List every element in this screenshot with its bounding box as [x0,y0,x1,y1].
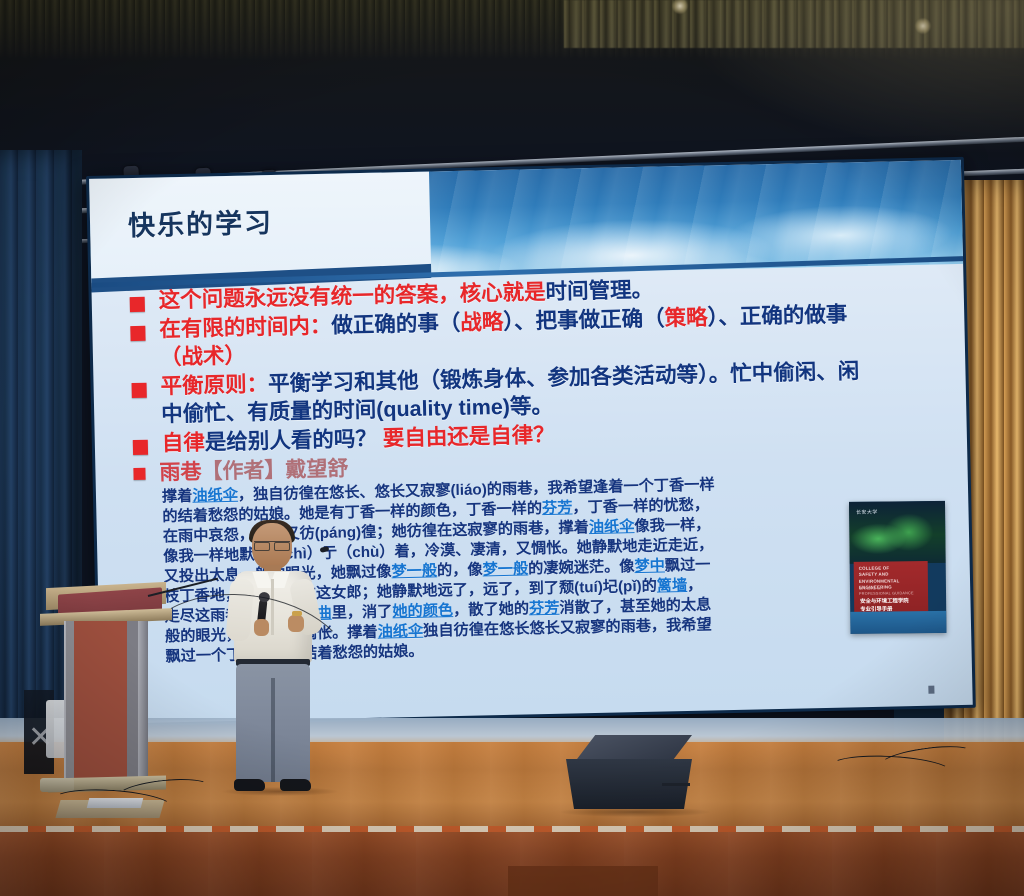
bullet-square-icon [132,383,147,398]
bullet-3-seg-1: 平衡原则： [160,372,268,398]
bullet-square-icon [130,297,145,312]
monitor-top-face [574,735,692,763]
lectern [40,585,172,800]
presenter-shoe-left [234,779,265,791]
presenter-shoe-right [280,779,311,791]
bullet-2-seg-5: 策略 [664,305,708,330]
slide-title: 快乐的学习 [128,201,274,243]
stage-apron-panel [508,866,658,896]
book-cover-band: COLLEGE OF SAFETY AND ENVIRONMENTAL ENGI… [854,561,929,616]
book-subtitle-en: MANUAL OF PROFESSIONAL GUIDANCE [859,586,925,597]
bullet-square-icon [130,326,145,341]
ceiling-lamp-icon [915,18,931,34]
bullet-square-icon [133,439,148,454]
glasses-icon [254,541,290,549]
poem-author: 戴望舒 [285,457,348,481]
book-cover-thumbnail: 长安大学 COLLEGE OF SAFETY AND ENVIRONMENTAL… [849,501,946,634]
bullet-2-seg-1: 在有限的时间内： [159,314,331,342]
lectern-body [66,621,144,781]
book-cover-photo: 长安大学 [849,501,946,564]
bullet-1-seg-1: 这个问题永远没有统一的答案，核心就是 [158,280,545,312]
bullet-1-seg-2: 时间管理。 [545,278,653,304]
monitor-handle [662,783,690,786]
bullet-2-seg-6: ）、正确的做事 [707,302,847,329]
poem-bracket: 【作者】 [201,458,285,483]
slide-page-marker [928,686,934,694]
book-university-logo: 长安大学 [856,509,878,516]
bullet-4-seg-2: 是给别人看的吗？ [205,426,383,454]
poem-title: 雨巷 [159,460,201,484]
bullet-4-seg-3: 要自由还是自律？ [383,423,555,451]
auditorium-scene: 快乐的学习 这个问题永远没有统一的答案，核心就是时间管理。 在有限的时间内：做正… [0,0,1024,896]
stage-monitor-speaker [566,735,708,815]
bullet-square-icon [133,467,145,479]
bullet-2-seg-7: （战术） [160,343,247,369]
power-strip [40,778,74,792]
bullet-2-seg-3: 战略 [460,310,504,335]
book-cover-footer [850,611,946,634]
bullet-2-seg-2: 做正确的事（ [331,311,461,338]
poem-heading: 雨巷【作者】戴望舒 [159,456,349,485]
ceiling-drape-right [564,0,1024,48]
bullet-2-seg-4: ）、把事做正确（ [503,306,665,334]
bullet-4-seg-1: 自律 [162,430,206,455]
